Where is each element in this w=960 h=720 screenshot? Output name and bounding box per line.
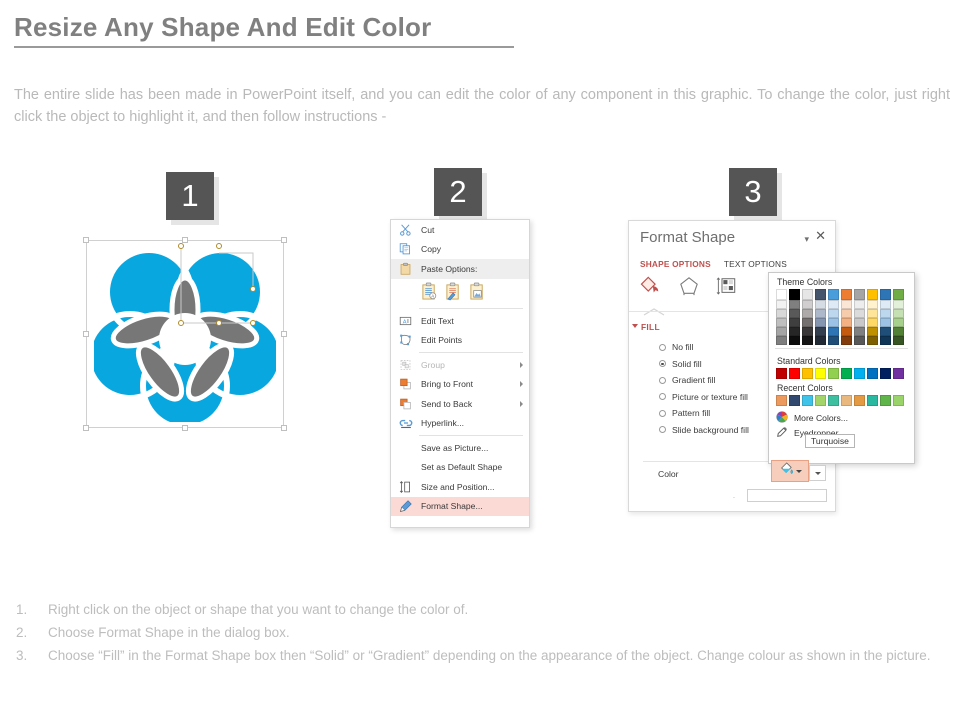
adjust-handle-right[interactable] — [250, 286, 256, 292]
resize-handle-ne[interactable] — [281, 237, 287, 243]
divider — [775, 348, 908, 349]
menu-item-label: Paste Options: — [421, 264, 477, 274]
standard-color-swatch-5[interactable] — [841, 368, 852, 379]
theme-tint-swatch-0-5[interactable] — [841, 300, 852, 309]
format-shape-icon — [398, 499, 413, 514]
list-number: 2. — [16, 621, 48, 644]
menu-item-edit-text[interactable]: A Edit Text — [391, 311, 529, 331]
resize-handle-sw[interactable] — [83, 425, 89, 431]
theme-colors-tint-row-4[interactable] — [769, 336, 914, 345]
fill-section-header: FILL — [641, 322, 660, 332]
standard-color-swatch-8[interactable] — [880, 368, 891, 379]
section-chevron-icon — [643, 303, 665, 321]
standard-color-swatch-9[interactable] — [893, 368, 904, 379]
theme-tint-swatch-0-6[interactable] — [854, 300, 865, 309]
standard-color-swatch-6[interactable] — [854, 368, 865, 379]
radio-icon[interactable] — [659, 410, 666, 417]
radio-label: Solid fill — [672, 359, 702, 369]
radio-icon[interactable] — [659, 393, 666, 400]
adjust-handle-inner-right[interactable] — [250, 320, 256, 326]
theme-tint-swatch-4-1[interactable] — [789, 336, 800, 345]
list-number: 3. — [16, 644, 48, 667]
color-label: Color — [658, 469, 679, 479]
standard-color-swatch-3[interactable] — [815, 368, 826, 379]
radio-picture-or-texture-fill[interactable]: Picture or texture fill — [659, 389, 749, 406]
menu-item-label: Send to Back — [421, 399, 472, 409]
menu-item-bring-to-front[interactable]: Bring to Front — [391, 375, 529, 395]
standard-colors-row[interactable] — [769, 368, 914, 379]
chevron-right-icon — [520, 401, 523, 407]
radio-label: Slide background fill — [672, 425, 749, 435]
radio-label: No fill — [672, 342, 694, 352]
list-item: 1. Right click on the object or shape th… — [16, 598, 946, 621]
theme-tint-swatch-2-2[interactable] — [802, 318, 813, 327]
theme-tint-swatch-2-3[interactable] — [815, 318, 826, 327]
theme-color-swatch-9[interactable] — [893, 289, 904, 300]
radio-solid-fill[interactable]: Solid fill — [659, 356, 749, 373]
theme-tint-swatch-1-0[interactable] — [776, 309, 787, 318]
svg-text:A: A — [403, 319, 407, 325]
theme-tint-swatch-3-8[interactable] — [880, 327, 891, 336]
theme-tint-swatch-2-8[interactable] — [880, 318, 891, 327]
recent-color-swatch-5[interactable] — [841, 395, 852, 406]
paste-use-destination-theme-icon[interactable] — [445, 282, 462, 303]
resize-handle-nw[interactable] — [83, 237, 89, 243]
group-icon — [398, 357, 413, 372]
theme-tint-swatch-3-3[interactable] — [815, 327, 826, 336]
theme-colors-label: Theme Colors — [769, 273, 914, 289]
chevron-down-icon[interactable] — [796, 470, 802, 473]
size-position-icon — [398, 479, 413, 494]
theme-tint-swatch-2-6[interactable] — [854, 318, 865, 327]
recent-color-swatch-3[interactable] — [815, 395, 826, 406]
resize-handle-s[interactable] — [182, 425, 188, 431]
more-colors-label: More Colors... — [794, 413, 848, 423]
color-field-stub[interactable] — [747, 489, 827, 502]
recent-color-swatch-0[interactable] — [776, 395, 787, 406]
color-dropdown-toggle[interactable] — [809, 465, 826, 481]
theme-tint-swatch-1-5[interactable] — [841, 309, 852, 318]
title-underline — [14, 46, 514, 48]
svg-text:A: A — [431, 294, 434, 299]
list-text: Choose “Fill” in the Format Shape box th… — [48, 644, 946, 667]
theme-color-swatch-4[interactable] — [828, 289, 839, 300]
effects-pentagon-icon[interactable] — [678, 276, 700, 301]
close-icon[interactable]: ✕ — [815, 229, 826, 242]
theme-tint-swatch-4-3[interactable] — [815, 336, 826, 345]
theme-colors-tint-rows[interactable] — [769, 300, 914, 345]
menu-item-paste-options: Paste Options: — [391, 259, 529, 279]
menu-item-label: Size and Position... — [421, 482, 495, 492]
eyedropper-icon — [776, 426, 788, 440]
radio-icon[interactable] — [659, 377, 666, 384]
adjust-handle-top-1[interactable] — [178, 243, 184, 249]
menu-item-label: Cut — [421, 225, 434, 235]
theme-tint-swatch-4-4[interactable] — [828, 336, 839, 345]
theme-tint-swatch-4-7[interactable] — [867, 336, 878, 345]
chevron-down-icon[interactable]: ▾ — [804, 234, 809, 245]
theme-tint-swatch-3-7[interactable] — [867, 327, 878, 336]
theme-tint-swatch-4-2[interactable] — [802, 336, 813, 345]
menu-item-save-as-picture[interactable]: Save as Picture... — [391, 438, 529, 458]
theme-tint-swatch-1-9[interactable] — [893, 309, 904, 318]
none-icon — [398, 440, 413, 455]
theme-tint-swatch-0-2[interactable] — [802, 300, 813, 309]
send-back-icon — [398, 396, 413, 411]
menu-item-label: Hyperlink... — [421, 418, 464, 428]
menu-item-hyperlink[interactable]: Hyperlink... — [391, 414, 529, 434]
recent-color-swatch-6[interactable] — [854, 395, 865, 406]
list-item: 2. Choose Format Shape in the dialog box… — [16, 621, 946, 644]
list-item: 3. Choose “Fill” in the Format Shape box… — [16, 644, 946, 667]
radio-no-fill[interactable]: No fill — [659, 339, 749, 356]
format-shape-icon-bar[interactable] — [640, 276, 738, 301]
theme-tint-swatch-4-6[interactable] — [854, 336, 865, 345]
list-text: Choose Format Shape in the dialog box. — [48, 621, 946, 644]
theme-tint-swatch-1-7[interactable] — [867, 309, 878, 318]
theme-color-swatch-2[interactable] — [802, 289, 813, 300]
recent-color-swatch-2[interactable] — [802, 395, 813, 406]
theme-colors-base-row[interactable] — [769, 289, 914, 300]
theme-tint-swatch-2-0[interactable] — [776, 318, 787, 327]
theme-colors-tint-row-0[interactable] — [769, 300, 914, 309]
theme-colors-tint-row-3[interactable] — [769, 327, 914, 336]
scissors-icon — [398, 222, 413, 237]
theme-color-swatch-0[interactable] — [776, 289, 787, 300]
menu-item-label: Set as Default Shape — [421, 462, 502, 472]
resize-handle-w[interactable] — [83, 331, 89, 337]
theme-color-swatch-6[interactable] — [854, 289, 865, 300]
theme-tint-swatch-0-8[interactable] — [880, 300, 891, 309]
intro-paragraph: The entire slide has been made in PowerP… — [14, 84, 950, 128]
adjust-handle-center[interactable] — [178, 320, 184, 326]
theme-tint-swatch-0-4[interactable] — [828, 300, 839, 309]
tab-text-options[interactable]: TEXT OPTIONS — [724, 259, 787, 269]
radio-label: Pattern fill — [672, 408, 710, 418]
fill-options-group[interactable]: No fill Solid fill Gradient fill Picture… — [659, 339, 749, 438]
more-colors-item[interactable]: More Colors... — [769, 410, 914, 425]
paste-icon — [398, 262, 413, 277]
menu-separator — [419, 435, 523, 436]
theme-tint-swatch-0-7[interactable] — [867, 300, 878, 309]
chevron-down-icon — [815, 472, 821, 475]
paste-keep-source-formatting-icon[interactable]: A — [421, 282, 438, 303]
theme-colors-tint-row-2[interactable] — [769, 318, 914, 327]
theme-tint-swatch-1-3[interactable] — [815, 309, 826, 318]
theme-tint-swatch-0-9[interactable] — [893, 300, 904, 309]
shape-stage — [86, 240, 284, 428]
radio-icon-selected[interactable] — [659, 360, 666, 367]
menu-separator — [419, 308, 523, 309]
standard-color-swatch-1[interactable] — [789, 368, 800, 379]
radio-slide-background-fill[interactable]: Slide background fill — [659, 422, 749, 439]
resize-handle-n[interactable] — [182, 237, 188, 243]
color-tooltip: Turquoise — [805, 434, 855, 448]
radio-icon[interactable] — [659, 426, 666, 433]
recent-color-swatch-1[interactable] — [789, 395, 800, 406]
menu-item-label: Group — [421, 360, 445, 370]
menu-item-format-shape[interactable]: Format Shape... — [391, 497, 529, 517]
resize-handle-e[interactable] — [281, 331, 287, 337]
theme-colors-tint-row-1[interactable] — [769, 309, 914, 318]
adjust-handle-top-2[interactable] — [216, 243, 222, 249]
context-menu[interactable]: Cut Copy Paste Options: — [390, 219, 530, 528]
theme-tint-swatch-0-3[interactable] — [815, 300, 826, 309]
theme-tint-swatch-2-7[interactable] — [867, 318, 878, 327]
menu-item-label: Edit Text — [421, 316, 454, 326]
theme-tint-swatch-4-8[interactable] — [880, 336, 891, 345]
paste-options-row[interactable]: A — [391, 279, 529, 306]
theme-tint-swatch-4-0[interactable] — [776, 336, 787, 345]
standard-color-swatch-4[interactable] — [828, 368, 839, 379]
theme-color-swatch-3[interactable] — [815, 289, 826, 300]
theme-tint-swatch-3-6[interactable] — [854, 327, 865, 336]
menu-item-set-as-default-shape[interactable]: Set as Default Shape — [391, 458, 529, 478]
radio-icon[interactable] — [659, 344, 666, 351]
resize-handle-se[interactable] — [281, 425, 287, 431]
fill-bucket-icon — [779, 462, 794, 481]
theme-color-swatch-7[interactable] — [867, 289, 878, 300]
theme-tint-swatch-1-2[interactable] — [802, 309, 813, 318]
theme-tint-swatch-3-2[interactable] — [802, 327, 813, 336]
standard-color-swatch-7[interactable] — [867, 368, 878, 379]
step-badge-2: 2 — [434, 168, 482, 216]
format-shape-title: Format Shape — [640, 229, 735, 246]
recent-colors-row[interactable] — [769, 395, 914, 406]
theme-tint-swatch-1-8[interactable] — [880, 309, 891, 318]
step-badge-3: 3 — [729, 168, 777, 216]
edit-text-icon: A — [398, 313, 413, 328]
copy-icon — [398, 242, 413, 257]
menu-item-label: Copy — [421, 244, 441, 254]
recent-color-swatch-4[interactable] — [828, 395, 839, 406]
recent-color-swatch-8[interactable] — [880, 395, 891, 406]
theme-tint-swatch-0-1[interactable] — [789, 300, 800, 309]
theme-tint-swatch-3-9[interactable] — [893, 327, 904, 336]
paste-picture-icon[interactable] — [469, 282, 486, 303]
menu-item-cut[interactable]: Cut — [391, 220, 529, 240]
radio-label: Gradient fill — [672, 375, 715, 385]
fill-section-toggle-icon[interactable] — [632, 324, 638, 328]
instruction-list: 1. Right click on the object or shape th… — [16, 598, 946, 667]
recent-color-swatch-7[interactable] — [867, 395, 878, 406]
chevron-right-icon — [520, 362, 523, 368]
theme-tint-swatch-4-9[interactable] — [893, 336, 904, 345]
theme-tint-swatch-3-1[interactable] — [789, 327, 800, 336]
menu-item-group: Group — [391, 355, 529, 375]
bring-front-icon — [398, 377, 413, 392]
theme-tint-swatch-3-4[interactable] — [828, 327, 839, 336]
edit-points-icon — [398, 333, 413, 348]
none-icon — [398, 460, 413, 475]
slide-canvas: Resize Any Shape And Edit Color The enti… — [0, 0, 960, 720]
fill-line-icon[interactable] — [640, 276, 662, 301]
theme-tint-swatch-2-9[interactable] — [893, 318, 904, 327]
list-text: Right click on the object or shape that … — [48, 598, 946, 621]
theme-tint-swatch-2-4[interactable] — [828, 318, 839, 327]
menu-item-label: Bring to Front — [421, 379, 473, 389]
theme-tint-swatch-1-1[interactable] — [789, 309, 800, 318]
recent-colors-label: Recent Colors — [769, 379, 914, 395]
theme-color-swatch-5[interactable] — [841, 289, 852, 300]
size-properties-icon[interactable] — [716, 276, 738, 301]
theme-tint-swatch-0-0[interactable] — [776, 300, 787, 309]
adjust-handle-mid-right[interactable] — [216, 320, 222, 326]
menu-item-label: Save as Picture... — [421, 443, 488, 453]
tab-shape-options[interactable]: SHAPE OPTIONS — [640, 259, 711, 269]
recent-color-swatch-9[interactable] — [893, 395, 904, 406]
menu-item-label: Format Shape... — [421, 501, 483, 511]
theme-tint-swatch-1-4[interactable] — [828, 309, 839, 318]
radio-gradient-fill[interactable]: Gradient fill — [659, 372, 749, 389]
radio-pattern-fill[interactable]: Pattern fill — [659, 405, 749, 422]
radio-label: Picture or texture fill — [672, 392, 748, 402]
theme-tint-swatch-4-5[interactable] — [841, 336, 852, 345]
menu-item-send-to-back[interactable]: Send to Back — [391, 394, 529, 414]
menu-item-edit-points[interactable]: Edit Points — [391, 331, 529, 351]
theme-tint-swatch-1-6[interactable] — [854, 309, 865, 318]
color-wheel-icon — [776, 411, 788, 425]
menu-separator — [419, 352, 523, 353]
hyperlink-icon — [398, 416, 413, 431]
theme-color-swatch-8[interactable] — [880, 289, 891, 300]
theme-tint-swatch-2-1[interactable] — [789, 318, 800, 327]
adjust-handle-guides — [86, 240, 284, 428]
theme-tint-swatch-2-5[interactable] — [841, 318, 852, 327]
menu-item-label: Edit Points — [421, 335, 462, 345]
theme-tint-swatch-3-0[interactable] — [776, 327, 787, 336]
standard-color-swatch-0[interactable] — [776, 368, 787, 379]
standard-color-swatch-2[interactable] — [802, 368, 813, 379]
transparency-tick: . — [733, 493, 735, 500]
theme-color-swatch-1[interactable] — [789, 289, 800, 300]
page-title: Resize Any Shape And Edit Color — [14, 12, 431, 43]
chevron-right-icon — [520, 381, 523, 387]
format-shape-tabs[interactable]: SHAPE OPTIONS TEXT OPTIONS — [640, 259, 787, 269]
list-number: 1. — [16, 598, 48, 621]
theme-tint-swatch-3-5[interactable] — [841, 327, 852, 336]
standard-colors-label: Standard Colors — [769, 352, 914, 368]
menu-item-size-and-position[interactable]: Size and Position... — [391, 477, 529, 497]
menu-item-copy[interactable]: Copy — [391, 240, 529, 260]
step-badge-1: 1 — [166, 172, 214, 220]
fill-color-button[interactable] — [771, 460, 809, 482]
